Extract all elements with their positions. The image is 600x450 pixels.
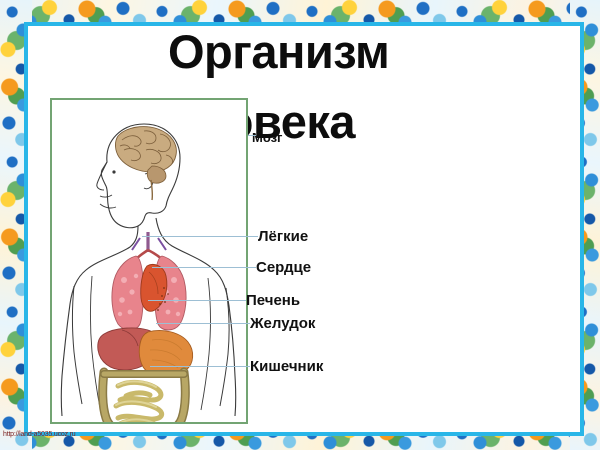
leader-line-lungs — [142, 236, 258, 237]
organ-label-heart: Сердце — [256, 259, 311, 276]
organ-label-intestine: Кишечник — [250, 358, 323, 375]
leader-line-intestine — [150, 366, 250, 367]
organ-label-liver: Печень — [246, 292, 300, 309]
organ-label-lungs: Лёгкие — [258, 228, 308, 245]
human-body-illustration — [52, 100, 246, 422]
leader-line-heart — [152, 267, 256, 268]
organ-label-stomach: Желудок — [250, 315, 315, 332]
leader-line-liver — [148, 300, 246, 301]
organ-large-intestine — [103, 372, 186, 422]
slide-canvas: Организм Мозг ловека — [0, 0, 600, 450]
human-body-diagram — [50, 98, 248, 424]
source-watermark: http://land-a5035.ucoz.ru — [3, 431, 75, 438]
leader-line-stomach — [156, 323, 250, 324]
page-title-line-1: Организм — [168, 26, 389, 78]
